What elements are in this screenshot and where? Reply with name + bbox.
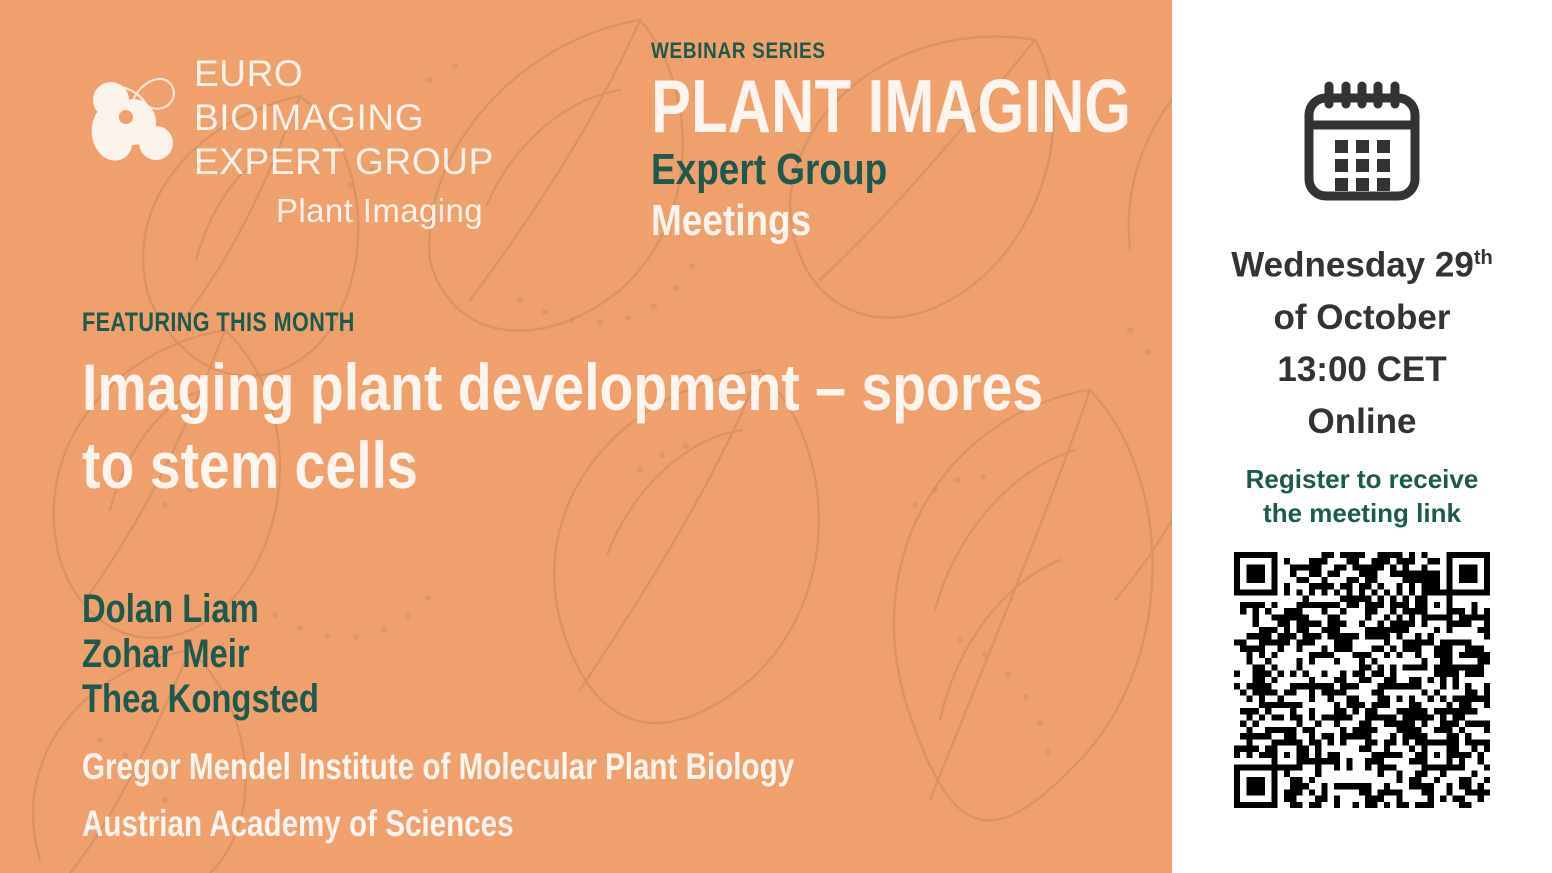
series-title-block: WEBINAR SERIES PLANT IMAGING Expert Grou… bbox=[651, 38, 1172, 246]
register-line-1: Register to receive bbox=[1197, 462, 1527, 496]
speaker-list: Dolan Liam Zohar Meir Thea Kongsted bbox=[82, 587, 982, 722]
event-day-text: Wednesday 29 bbox=[1231, 246, 1474, 285]
affiliation-line: Gregor Mendel Institute of Molecular Pla… bbox=[82, 738, 882, 795]
logo-line-3: EXPERT GROUP bbox=[194, 140, 594, 184]
series-subtitle-line-1: Expert Group bbox=[651, 145, 1155, 195]
featured-talk-block: FEATURING THIS MONTH Imaging plant devel… bbox=[82, 306, 1042, 504]
calendar-icon bbox=[1296, 78, 1428, 210]
event-month-line: of October bbox=[1192, 292, 1532, 344]
orange-content-panel: EURO BIOIMAGING EXPERT GROUP Plant Imagi… bbox=[0, 0, 1172, 873]
speaker-name: Zohar Meir bbox=[82, 632, 820, 677]
series-subtitle-line-2: Meetings bbox=[651, 196, 1155, 246]
event-date-block: Wednesday 29th of October 13:00 CET Onli… bbox=[1192, 232, 1532, 448]
register-cta[interactable]: Register to receive the meeting link bbox=[1197, 462, 1527, 530]
speaker-name: Dolan Liam bbox=[82, 587, 820, 632]
logo-line-2: BIOIMAGING bbox=[194, 96, 594, 140]
webinar-announcement-poster: EURO BIOIMAGING EXPERT GROUP Plant Imagi… bbox=[0, 0, 1552, 873]
featured-talk-title: Imaging plant development – spores to st… bbox=[82, 348, 1040, 504]
qr-code[interactable] bbox=[1234, 552, 1490, 808]
event-location-line: Online bbox=[1192, 396, 1532, 448]
featuring-kicker: FEATURING THIS MONTH bbox=[82, 306, 850, 338]
featured-title-line-2: to stem cells bbox=[82, 426, 1040, 504]
series-kicker: WEBINAR SERIES bbox=[651, 38, 1167, 64]
event-time-line: 13:00 CET bbox=[1192, 344, 1532, 396]
molecule-logo-icon bbox=[84, 60, 180, 182]
logo-subtitle: Plant Imaging bbox=[194, 192, 483, 230]
euro-bioimaging-logo: EURO BIOIMAGING EXPERT GROUP Plant Imagi… bbox=[84, 52, 514, 242]
event-day-line: Wednesday 29th bbox=[1192, 232, 1532, 292]
speaker-name: Thea Kongsted bbox=[82, 677, 820, 722]
series-title: PLANT IMAGING bbox=[651, 68, 1131, 144]
featured-title-line-1: Imaging plant development – spores bbox=[82, 348, 1040, 426]
affiliation-line: Austrian Academy of Sciences bbox=[82, 795, 882, 852]
event-day-ordinal: th bbox=[1474, 247, 1493, 269]
register-line-2: the meeting link bbox=[1197, 496, 1527, 530]
affiliation-list: Gregor Mendel Institute of Molecular Pla… bbox=[82, 738, 1082, 852]
event-details-panel: Wednesday 29th of October 13:00 CET Onli… bbox=[1172, 0, 1552, 873]
logo-line-1: EURO bbox=[194, 52, 594, 96]
